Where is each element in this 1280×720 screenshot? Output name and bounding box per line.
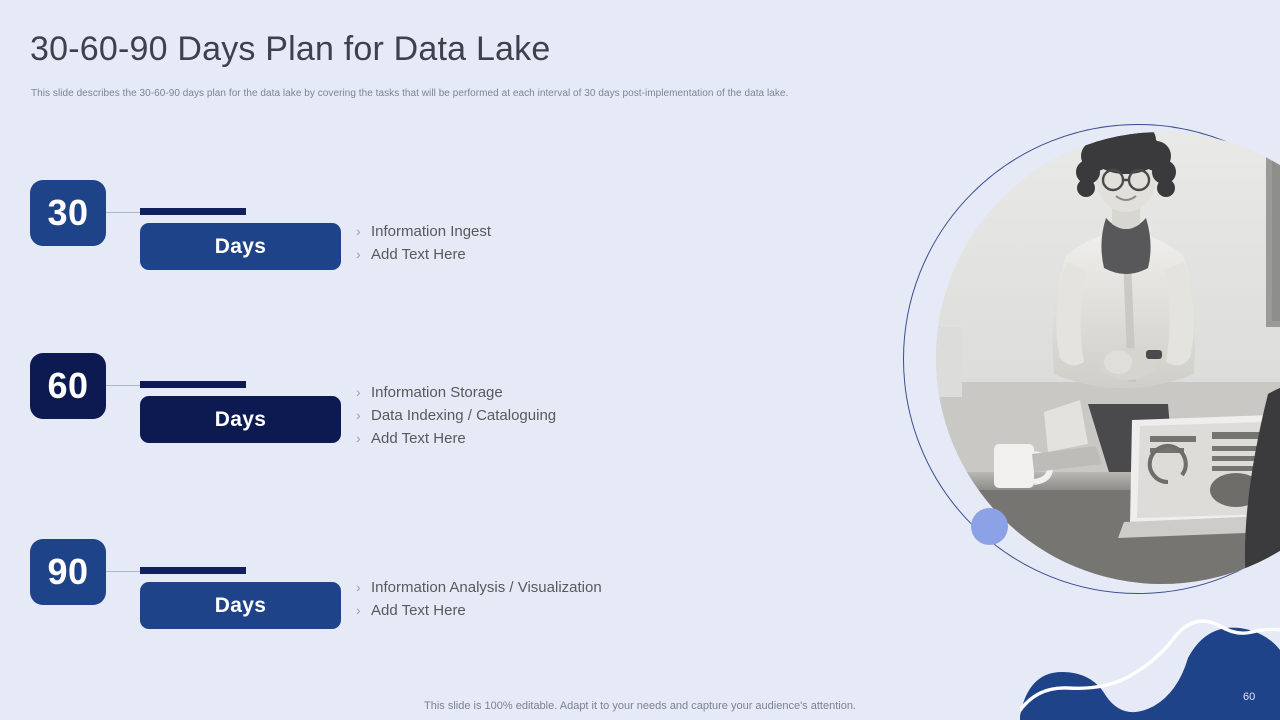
slide-canvas: 30-60-90 Days Plan for Data Lake This sl… <box>0 0 1280 720</box>
page-title: 30-60-90 Days Plan for Data Lake <box>30 30 550 69</box>
chevron-right-icon: › <box>356 429 371 448</box>
accent-dot <box>971 508 1008 545</box>
accent-bar-30 <box>140 208 246 215</box>
days-pill-90[interactable]: Days <box>140 582 341 629</box>
chevron-right-icon: › <box>356 578 371 597</box>
accent-bar-90 <box>140 567 246 574</box>
day-badge-90[interactable]: 90 <box>30 539 106 605</box>
day-badge-60[interactable]: 60 <box>30 353 106 419</box>
bullet-list-90: › Information Analysis / Visualization ›… <box>356 578 876 624</box>
list-item-label: Information Storage <box>371 383 503 402</box>
timeline-row-60: 60 Days › Information Storage › Data Ind… <box>0 345 900 465</box>
chevron-right-icon: › <box>356 245 371 264</box>
bullet-list-60: › Information Storage › Data Indexing / … <box>356 383 876 452</box>
list-item-label: Add Text Here <box>371 245 466 264</box>
list-item: › Data Indexing / Cataloguing <box>356 406 876 425</box>
list-item-label: Data Indexing / Cataloguing <box>371 406 556 425</box>
list-item: › Add Text Here <box>356 601 876 620</box>
page-subtitle: This slide describes the 30-60-90 days p… <box>31 88 788 99</box>
list-item: › Information Analysis / Visualization <box>356 578 876 597</box>
days-pill-30[interactable]: Days <box>140 223 341 270</box>
chevron-right-icon: › <box>356 222 371 241</box>
accent-bar-60 <box>140 381 246 388</box>
footer-note: This slide is 100% editable. Adapt it to… <box>0 700 1280 712</box>
chevron-right-icon: › <box>356 383 371 402</box>
timeline-row-30: 30 Days › Information Ingest › Add Text … <box>0 172 900 292</box>
bullet-list-30: › Information Ingest › Add Text Here <box>356 222 876 268</box>
list-item-label: Add Text Here <box>371 429 466 448</box>
page-number: 60 <box>1243 691 1255 703</box>
chevron-right-icon: › <box>356 601 371 620</box>
list-item: › Information Ingest <box>356 222 876 241</box>
list-item: › Information Storage <box>356 383 876 402</box>
list-item-label: Information Analysis / Visualization <box>371 578 602 597</box>
list-item-label: Add Text Here <box>371 601 466 620</box>
timeline-row-90: 90 Days › Information Analysis / Visuali… <box>0 531 900 651</box>
list-item-label: Information Ingest <box>371 222 491 241</box>
day-badge-30[interactable]: 30 <box>30 180 106 246</box>
list-item: › Add Text Here <box>356 245 876 264</box>
days-pill-60[interactable]: Days <box>140 396 341 443</box>
list-item: › Add Text Here <box>356 429 876 448</box>
chevron-right-icon: › <box>356 406 371 425</box>
